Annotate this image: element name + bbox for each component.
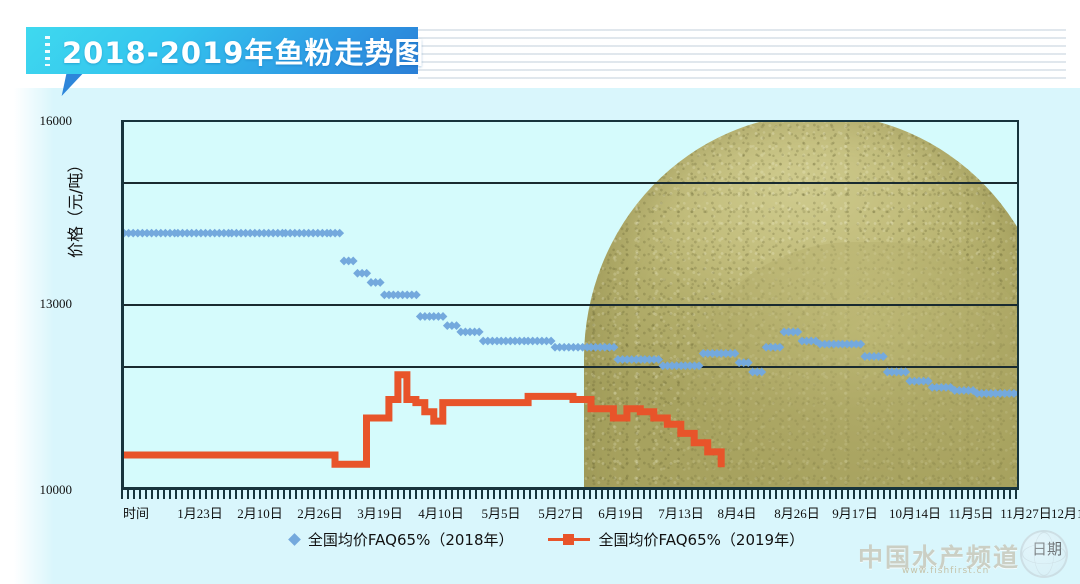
legend-label-2018: 全国均价FAQ65%（2018年） (308, 529, 514, 550)
x-tick-8: 6月19日 (598, 503, 644, 522)
page-title: 2018-2019年鱼粉走势图 (62, 30, 424, 72)
y-axis-title: 价格（元/吨） (62, 157, 86, 258)
x-tick-10: 8月4日 (717, 503, 756, 522)
legend-item-2019[interactable]: 全国均价FAQ65%（2019年） (548, 529, 805, 550)
y-tick-16000: 16000 (40, 113, 73, 129)
diamond-marker-icon (288, 533, 301, 546)
x-tick-15: 11月27日 (1000, 503, 1052, 522)
legend-item-2018[interactable]: 全国均价FAQ65%（2018年） (290, 529, 514, 550)
x-tick-3: 2月26日 (297, 503, 343, 522)
title-banner: 2018-2019年鱼粉走势图 (26, 27, 418, 74)
x-tick-6: 5月5日 (481, 503, 520, 522)
chart-panel: 价格（元/吨） 16000 13000 10000 时间 1月23日 2月10日… (14, 88, 1080, 584)
x-tick-14: 11月5日 (948, 503, 993, 522)
x-tick-origin: 时间 (123, 503, 149, 522)
legend-label-2019: 全国均价FAQ65%（2019年） (599, 529, 805, 550)
x-tick-12: 9月17日 (832, 503, 878, 522)
x-tick-9: 7月13日 (658, 503, 704, 522)
y-tick-10000: 10000 (40, 482, 73, 498)
x-tick-16: 12月19日 (1051, 503, 1080, 522)
watermark: 中国水产频道 www.fishfirst.cn (850, 528, 1072, 582)
watermark-url: www.fishfirst.cn (902, 566, 989, 576)
y-tick-13000: 13000 (40, 296, 73, 312)
x-tick-7: 5月27日 (538, 503, 584, 522)
x-tick-2: 2月10日 (237, 503, 283, 522)
x-tick-11: 8月26日 (774, 503, 820, 522)
series-2018 (121, 229, 1019, 398)
series-2019 (124, 375, 721, 468)
dotted-accent-icon (45, 36, 50, 66)
price-trend-chart: 价格（元/吨） 16000 13000 10000 时间 1月23日 2月10日… (14, 88, 1080, 584)
x-tick-4: 3月19日 (357, 503, 403, 522)
header-decorative-lines (418, 29, 1066, 81)
x-tick-1: 1月23日 (177, 503, 223, 522)
x-axis-ticks (121, 490, 1019, 499)
chart-page: 2018-2019年鱼粉走势图 价格（元/吨） 16000 13000 1000… (0, 0, 1080, 584)
line-square-marker-icon (548, 538, 590, 541)
x-tick-13: 10月14日 (889, 503, 941, 522)
globe-icon (1020, 530, 1068, 578)
plot-area (121, 120, 1019, 490)
x-tick-5: 4月10日 (418, 503, 464, 522)
series-layer (124, 122, 1019, 490)
